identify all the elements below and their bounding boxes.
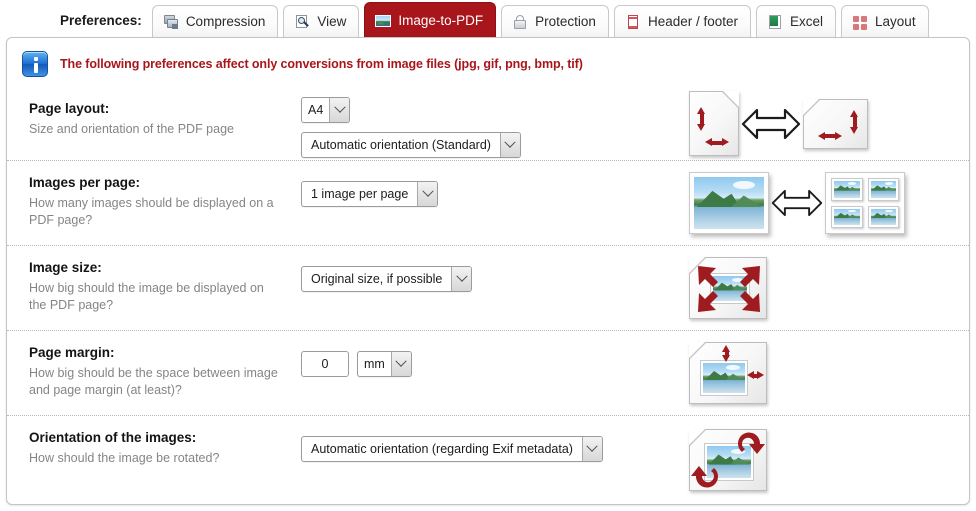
vertical-arrow-icon bbox=[697, 107, 706, 131]
page-orientation-value: Automatic orientation (Standard) bbox=[302, 133, 500, 157]
images-per-page-label-group: Images per page: How many images should … bbox=[29, 161, 301, 229]
tab-layout-label: Layout bbox=[875, 15, 916, 29]
padlock-icon bbox=[512, 14, 528, 30]
tab-view[interactable]: View bbox=[283, 5, 359, 38]
setting-row-page-margin: Page margin: How big should be the space… bbox=[7, 331, 969, 416]
tab-compression[interactable]: Compression bbox=[152, 5, 279, 38]
preferences-panel: The following preferences affect only co… bbox=[6, 37, 970, 505]
info-icon bbox=[22, 51, 48, 77]
tab-protection[interactable]: Protection bbox=[501, 5, 609, 38]
setting-row-page-layout: Page layout: Size and orientation of the… bbox=[7, 87, 969, 161]
photo-thumbnail bbox=[694, 177, 764, 229]
image-size-illustration bbox=[661, 246, 949, 330]
portrait-page-graphic bbox=[689, 91, 739, 156]
page-with-margin-arrows-graphic bbox=[689, 342, 767, 404]
image-orientation-illustration bbox=[661, 416, 949, 504]
image-size-select[interactable]: Original size, if possible bbox=[301, 266, 472, 292]
images-per-page-description: How many images should be displayed on a… bbox=[29, 195, 284, 229]
chevron-down-icon[interactable] bbox=[451, 267, 471, 291]
grid-photo-cell bbox=[868, 178, 900, 201]
image-icon bbox=[375, 13, 391, 29]
page-layout-description: Size and orientation of the PDF page bbox=[29, 121, 284, 138]
page-layout-controls: A4 Automatic orientation (Standard) bbox=[301, 87, 661, 158]
chevron-down-icon[interactable] bbox=[500, 133, 520, 157]
image-size-value: Original size, if possible bbox=[302, 267, 451, 291]
tab-image-to-pdf[interactable]: Image-to-PDF bbox=[364, 2, 496, 38]
excel-icon bbox=[767, 14, 783, 30]
grid-photo-cell bbox=[868, 206, 900, 229]
horizontal-arrow-icon bbox=[818, 132, 842, 141]
single-photo-graphic bbox=[689, 172, 769, 234]
notice-text: The following preferences affect only co… bbox=[60, 57, 583, 71]
page-fold-icon bbox=[689, 342, 705, 358]
images-per-page-select[interactable]: 1 image per page bbox=[301, 181, 438, 207]
page-margin-label-group: Page margin: How big should be the space… bbox=[29, 331, 301, 399]
header-footer-icon bbox=[625, 14, 641, 30]
outward-arrows-icon bbox=[690, 258, 768, 320]
preferences-label: Preferences: bbox=[60, 13, 152, 38]
chevron-down-icon[interactable] bbox=[391, 352, 411, 376]
double-arrow-icon bbox=[741, 107, 801, 141]
image-to-pdf-preferences-screen: Preferences: Compression View Image-to-P… bbox=[0, 0, 976, 511]
tab-header-footer-label: Header / footer bbox=[648, 15, 738, 29]
chevron-down-icon[interactable] bbox=[582, 437, 602, 461]
page-layout-illustration bbox=[661, 87, 949, 160]
layout-grid-icon bbox=[852, 14, 868, 30]
image-size-controls: Original size, if possible bbox=[301, 246, 661, 292]
page-layout-title: Page layout: bbox=[29, 101, 301, 118]
notice-banner: The following preferences affect only co… bbox=[7, 38, 969, 87]
page-fold-icon bbox=[689, 429, 705, 445]
page-fold-icon bbox=[803, 99, 819, 115]
images-per-page-illustration bbox=[661, 161, 949, 245]
setting-row-image-orientation: Orientation of the images: How should th… bbox=[7, 416, 969, 504]
images-per-page-title: Images per page: bbox=[29, 175, 301, 192]
image-orientation-select[interactable]: Automatic orientation (regarding Exif me… bbox=[301, 436, 603, 462]
vertical-arrow-icon bbox=[850, 110, 859, 134]
image-size-title: Image size: bbox=[29, 260, 301, 277]
page-with-resize-arrows-graphic bbox=[689, 257, 767, 319]
page-margin-unit-select[interactable]: mm bbox=[357, 351, 412, 377]
page-margin-unit-value: mm bbox=[358, 352, 391, 376]
tab-view-label: View bbox=[317, 15, 346, 29]
vertical-arrow-icon bbox=[722, 345, 731, 362]
tab-protection-label: Protection bbox=[535, 15, 596, 29]
images-per-page-controls: 1 image per page bbox=[301, 161, 661, 207]
photo-thumbnail bbox=[700, 360, 748, 396]
page-margin-controls: mm bbox=[301, 331, 661, 377]
four-photo-grid-graphic bbox=[825, 172, 905, 234]
setting-row-image-size: Image size: How big should the image be … bbox=[7, 246, 969, 331]
page-margin-illustration bbox=[661, 331, 949, 415]
horizontal-arrow-icon bbox=[705, 138, 729, 147]
image-orientation-label-group: Orientation of the images: How should th… bbox=[29, 416, 301, 467]
chevron-down-icon[interactable] bbox=[329, 98, 349, 122]
image-orientation-value: Automatic orientation (regarding Exif me… bbox=[302, 437, 582, 461]
grid-photo-cell bbox=[831, 178, 863, 201]
setting-row-images-per-page: Images per page: How many images should … bbox=[7, 161, 969, 246]
image-orientation-description: How should the image be rotated? bbox=[29, 450, 284, 467]
tab-image-to-pdf-label: Image-to-PDF bbox=[398, 14, 483, 28]
page-margin-input[interactable] bbox=[301, 351, 349, 377]
images-per-page-value: 1 image per page bbox=[302, 182, 417, 206]
image-size-label-group: Image size: How big should the image be … bbox=[29, 246, 301, 314]
magnifier-page-icon bbox=[294, 14, 310, 30]
page-orientation-select[interactable]: Automatic orientation (Standard) bbox=[301, 132, 521, 158]
page-layout-label-group: Page layout: Size and orientation of the… bbox=[29, 87, 301, 138]
page-margin-description: How big should be the space between imag… bbox=[29, 365, 284, 399]
horizontal-arrow-icon bbox=[747, 371, 764, 380]
rotate-cw-icon bbox=[734, 428, 768, 462]
tab-layout[interactable]: Layout bbox=[841, 5, 929, 38]
image-orientation-controls: Automatic orientation (regarding Exif me… bbox=[301, 416, 661, 462]
preferences-tabbar: Preferences: Compression View Image-to-P… bbox=[0, 0, 976, 38]
tab-compression-label: Compression bbox=[186, 15, 266, 29]
settings-list: Page layout: Size and orientation of the… bbox=[7, 87, 969, 504]
page-fold-icon bbox=[723, 91, 739, 107]
page-margin-title: Page margin: bbox=[29, 345, 301, 362]
page-size-value: A4 bbox=[302, 98, 329, 122]
grid-photo-cell bbox=[831, 206, 863, 229]
page-size-select[interactable]: A4 bbox=[301, 97, 350, 123]
rotate-ccw-icon bbox=[688, 458, 722, 492]
image-orientation-title: Orientation of the images: bbox=[29, 430, 301, 447]
chevron-down-icon[interactable] bbox=[417, 182, 437, 206]
tab-excel[interactable]: Excel bbox=[756, 5, 836, 38]
tab-excel-label: Excel bbox=[790, 15, 823, 29]
compression-icon bbox=[163, 14, 179, 30]
image-size-description: How big should the image be displayed on… bbox=[29, 280, 284, 314]
page-with-rotation-arrows-graphic bbox=[689, 429, 767, 491]
double-arrow-icon bbox=[771, 188, 823, 218]
landscape-page-graphic bbox=[803, 99, 868, 149]
tab-header-footer[interactable]: Header / footer bbox=[614, 5, 751, 38]
